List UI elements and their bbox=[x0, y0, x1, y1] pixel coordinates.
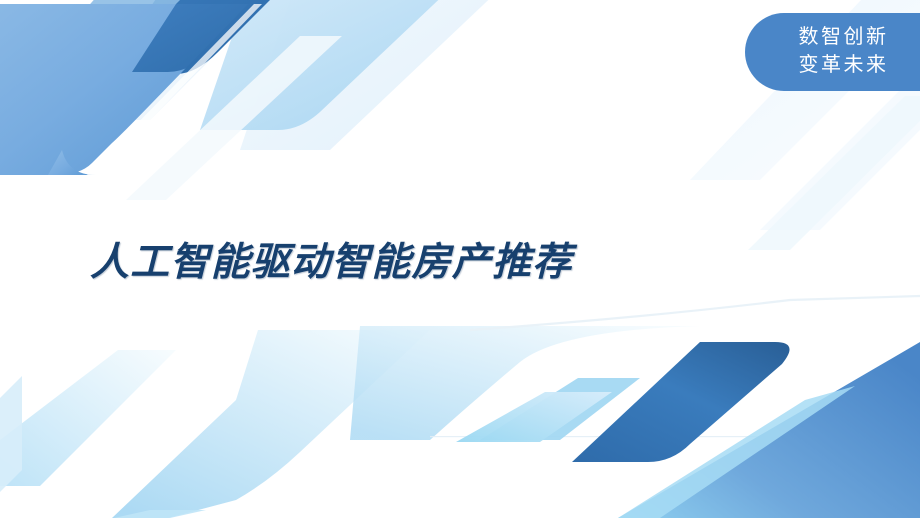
decor-top-medium-band bbox=[20, 0, 210, 84]
decor-botleft-stripe-1 bbox=[0, 350, 176, 486]
decor-top-white-seam bbox=[86, 4, 262, 176]
decor-top-dark-band bbox=[104, 0, 300, 74]
decor-top-guide bbox=[0, 2, 268, 165]
decor-botright-triangle-edge bbox=[618, 386, 855, 518]
corner-badge: 数智创新 变革未来 bbox=[745, 13, 920, 91]
presentation-slide: 数智创新 变革未来 人工智能驱动智能房产推荐 bbox=[0, 0, 920, 518]
decor-botleft-stripe-2 bbox=[114, 510, 206, 518]
decor-top-sliver bbox=[96, 0, 300, 120]
decor-hairline bbox=[430, 436, 920, 437]
decor-botright-curve bbox=[470, 296, 920, 330]
decor-top-dark-overlay bbox=[132, 4, 256, 72]
decor-botright-dark-par bbox=[572, 342, 790, 462]
decor-top-light-band bbox=[200, 0, 470, 130]
decor-botleft-stripe-edge bbox=[0, 376, 22, 492]
decor-top-pale-band bbox=[240, 0, 520, 150]
badge-line-2: 变革未来 bbox=[799, 52, 889, 80]
decor-botright-triangle bbox=[618, 342, 920, 518]
decor-botright-light-par-2 bbox=[456, 392, 612, 442]
decor-botleft-wide-band bbox=[350, 326, 700, 440]
badge-line-1: 数智创新 bbox=[799, 24, 889, 52]
decor-top-faint-tail bbox=[126, 36, 342, 200]
decor-top-main-corner bbox=[48, 150, 96, 175]
decor-top-main-shape bbox=[0, 4, 248, 175]
decor-botleft-swoosh bbox=[112, 330, 430, 518]
decor-botright-light-par bbox=[480, 378, 640, 440]
slide-title: 人工智能驱动智能房产推荐 bbox=[90, 231, 572, 287]
decor-topright-faint-3 bbox=[748, 96, 920, 250]
